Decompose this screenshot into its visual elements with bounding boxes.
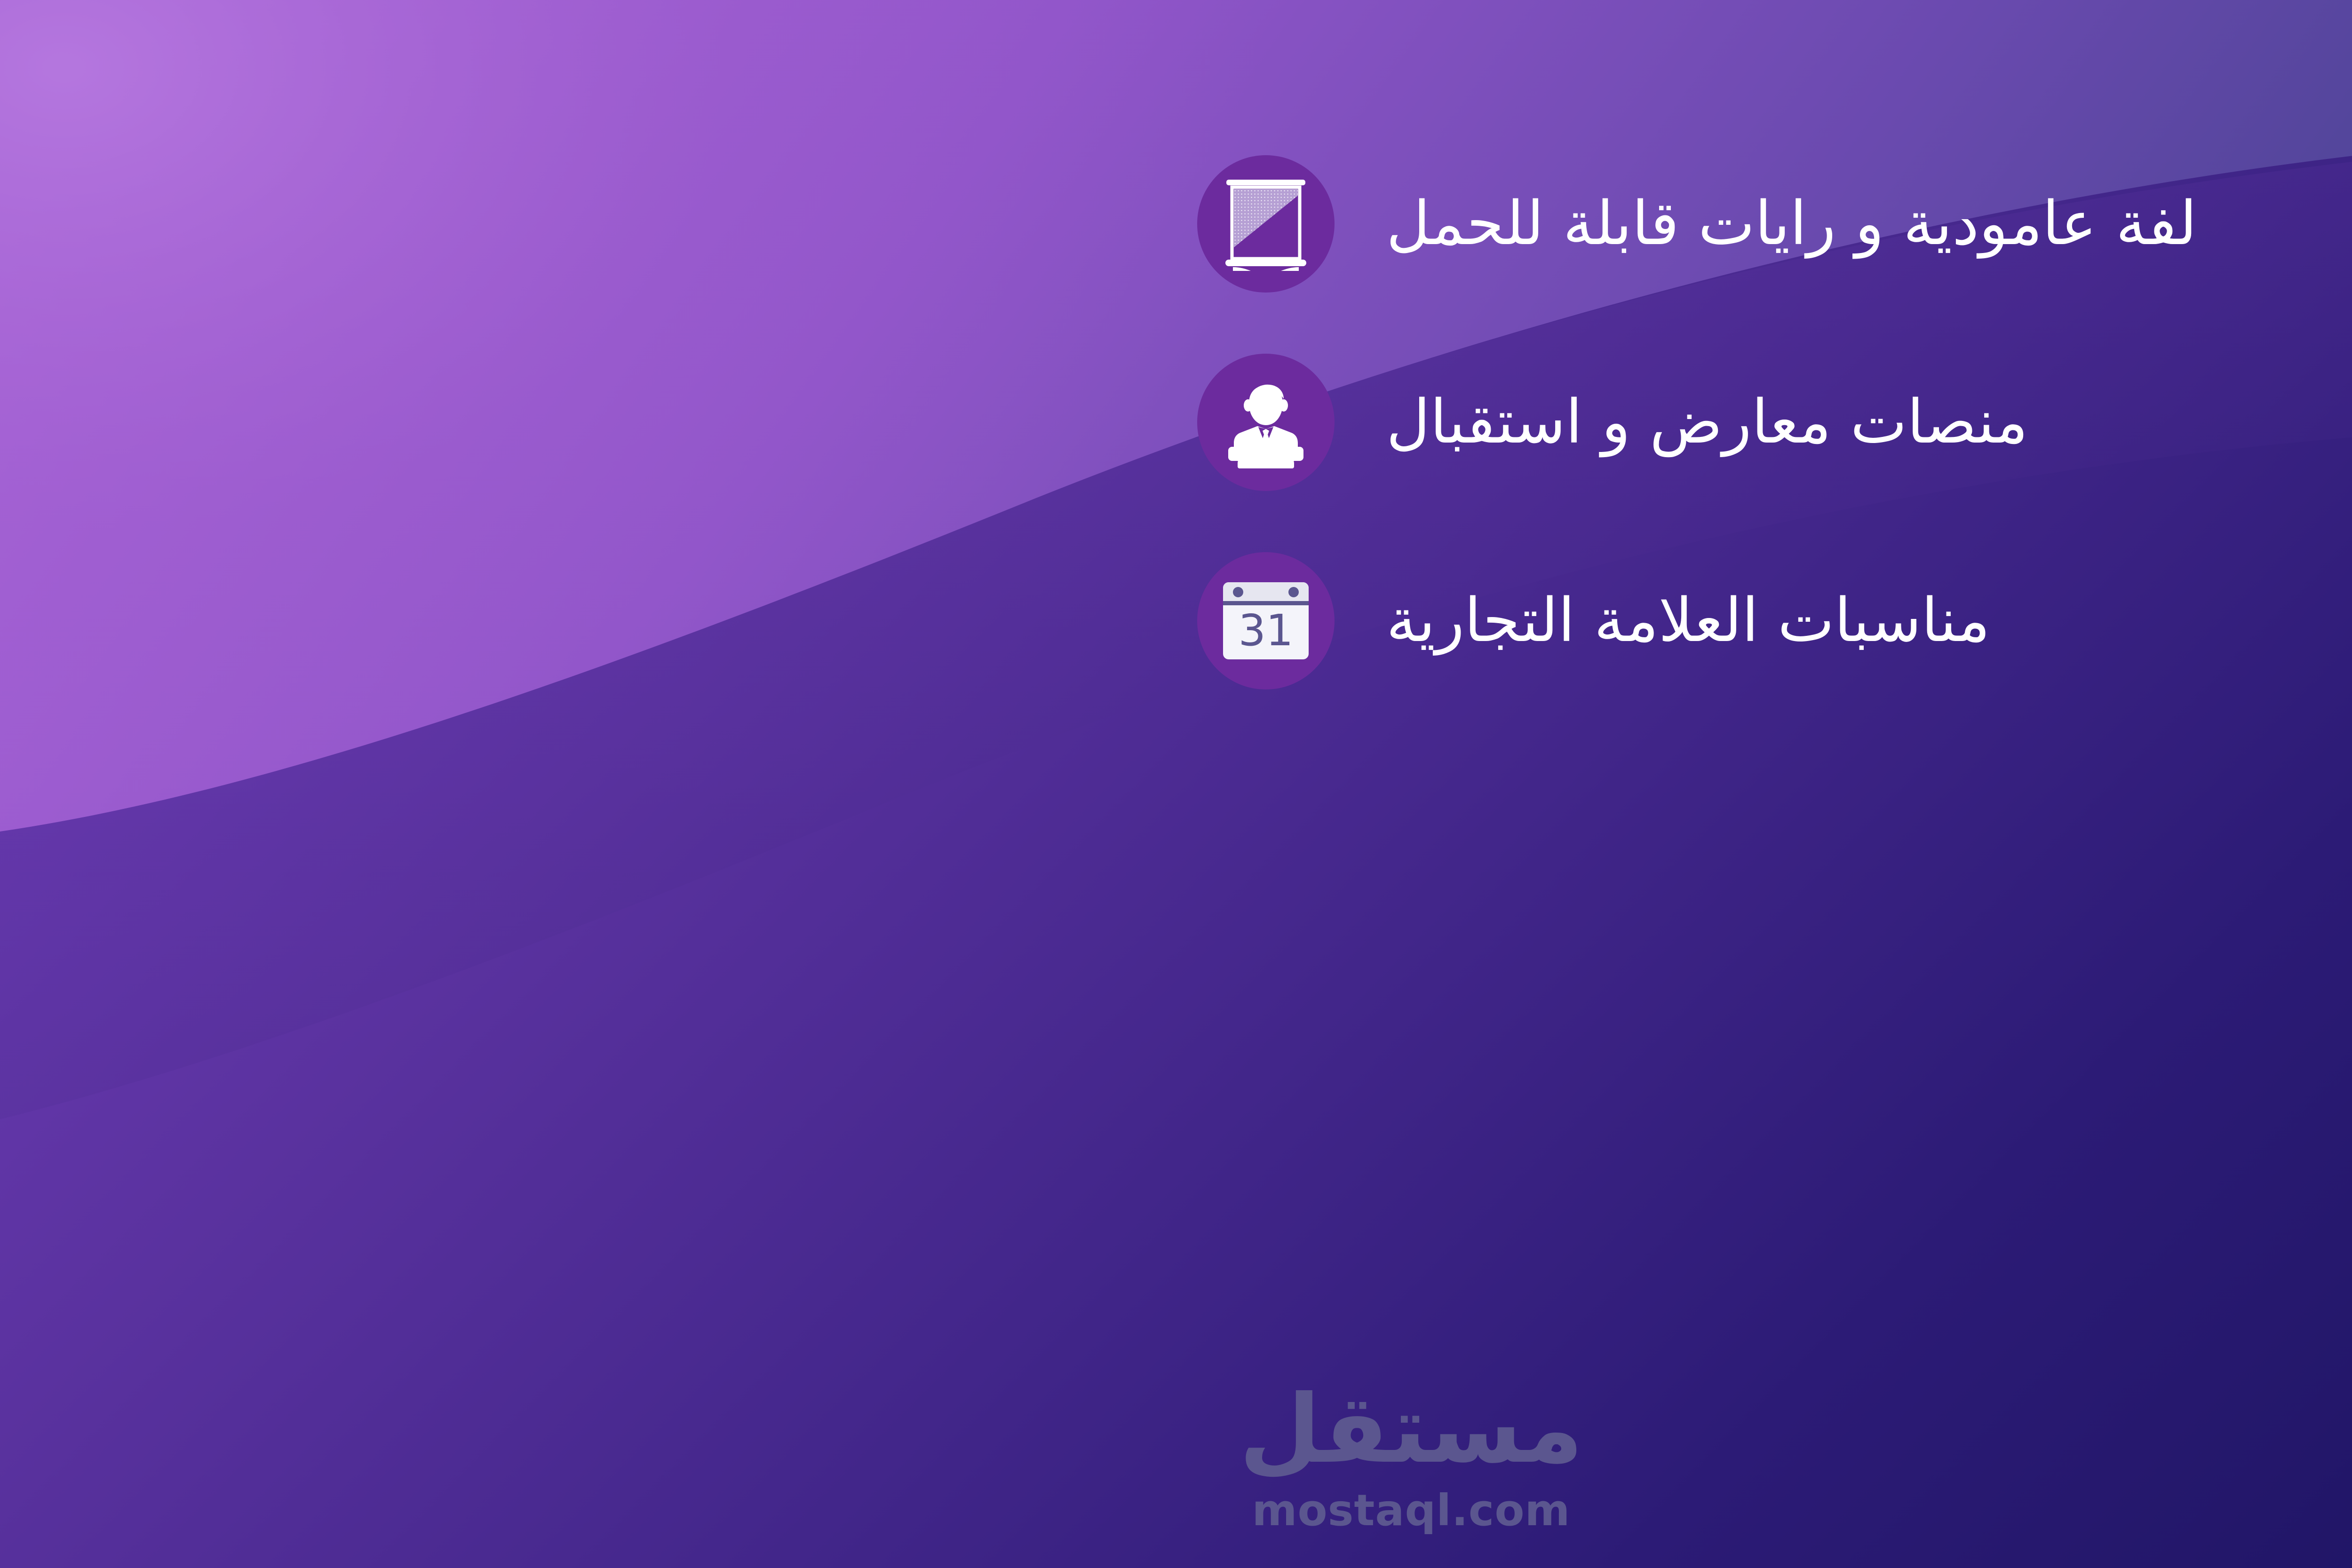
mostaql-logo: مستقل mostaql.com bbox=[0, 1383, 2352, 1532]
rollup-banner-icon bbox=[1197, 155, 1335, 293]
mostaql-domain: mostaql.com bbox=[1252, 1489, 1571, 1532]
feature-row-brand-events: 31 مناسبات العلامة التجارية bbox=[1197, 552, 2352, 689]
calendar-day-number: 31 bbox=[1238, 605, 1293, 656]
feature-row-rollup-banner: لفة عامودية و رايات قابلة للحمل bbox=[1197, 155, 2352, 293]
slide-canvas: لفة عامودية و رايات قابلة للحمل bbox=[0, 0, 2352, 1568]
feature-label: لفة عامودية و رايات قابلة للحمل bbox=[1386, 188, 2197, 259]
calendar-icon: 31 bbox=[1197, 552, 1335, 689]
feature-label: منصات معارض و استقبال bbox=[1386, 387, 2028, 458]
podium-speaker-icon bbox=[1197, 354, 1335, 491]
feature-row-exhibition-stand: منصات معارض و استقبال bbox=[1197, 354, 2352, 491]
feature-label: مناسبات العلامة التجارية bbox=[1386, 585, 1990, 656]
feature-list: لفة عامودية و رايات قابلة للحمل bbox=[1197, 155, 2352, 689]
mostaql-wordmark: مستقل bbox=[1239, 1383, 1583, 1477]
